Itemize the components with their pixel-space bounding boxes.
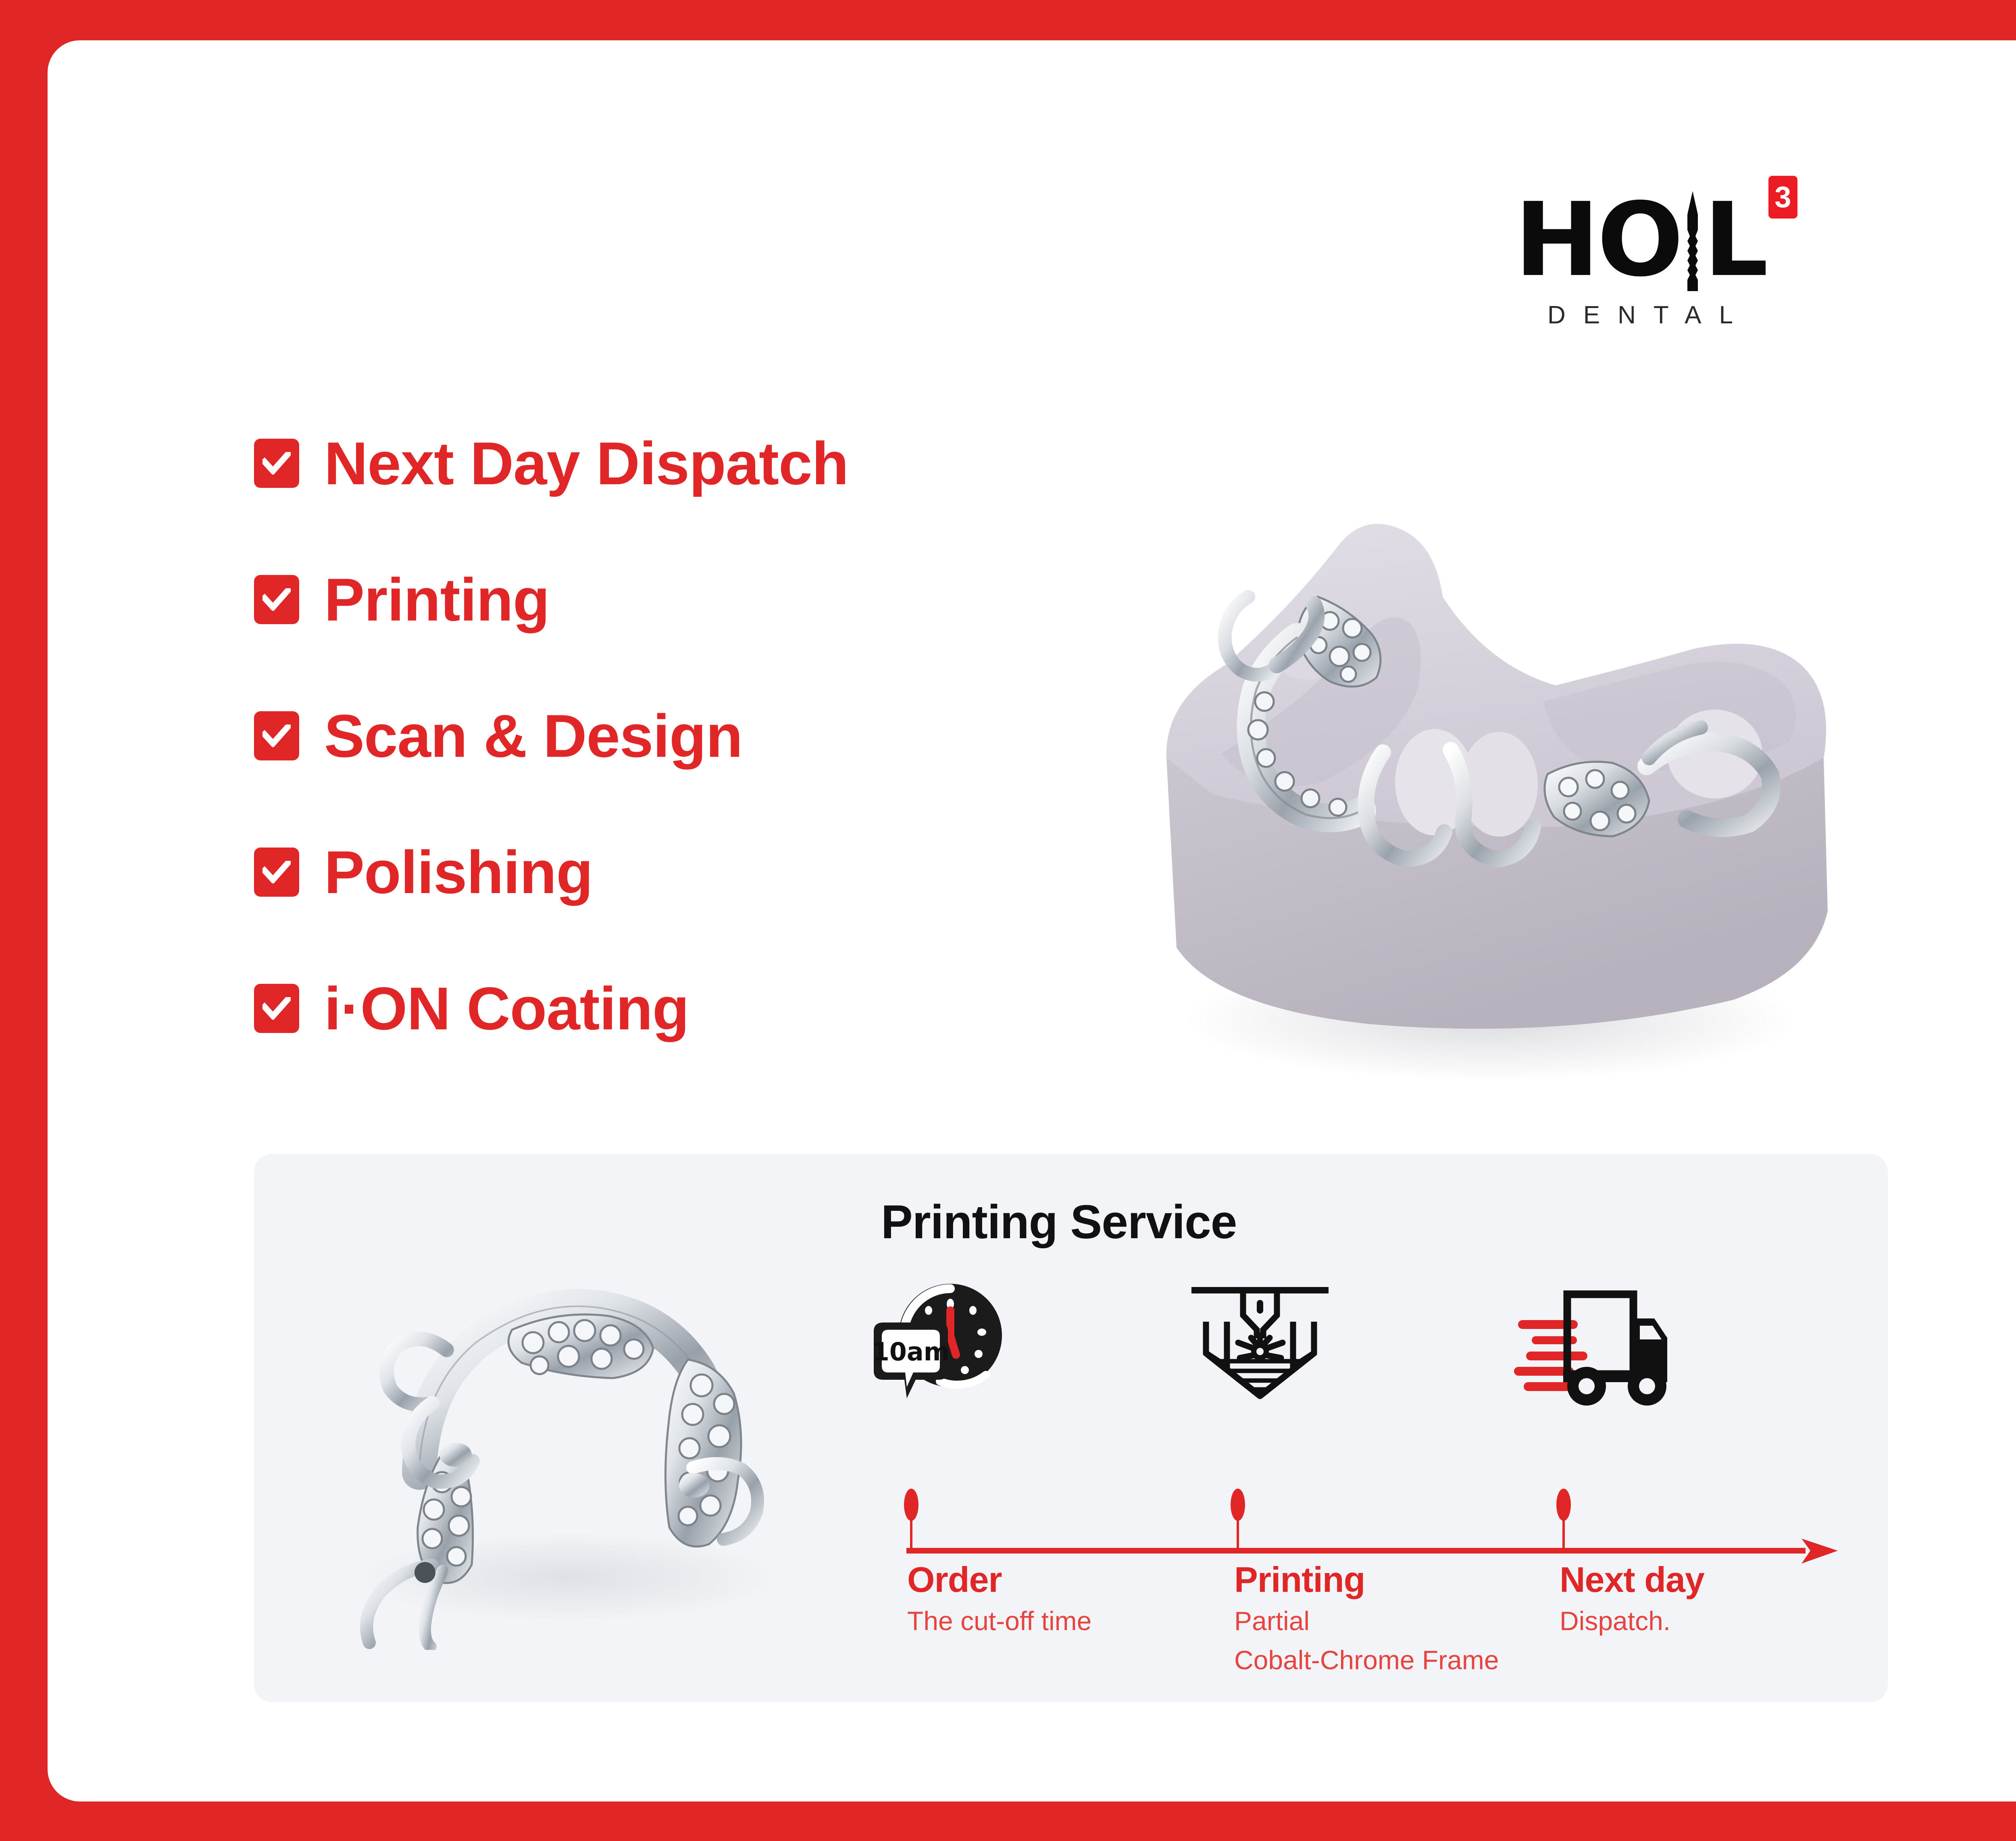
svg-text:10am: 10am — [872, 1337, 950, 1366]
timeline-step-next-day: Next day Dispatch. — [1560, 1560, 1704, 1638]
timeline-step-head: Printing — [1234, 1560, 1499, 1599]
timeline-step-order: Order The cut-off time — [907, 1560, 1091, 1638]
timeline-axis — [902, 1487, 1854, 1564]
hero-title: SLM Partial Cobalt-Chrome Frame — [1967, 1492, 2016, 1651]
timeline-step-sub: Dispatch. — [1560, 1604, 1704, 1638]
checklist-item-label: Polishing — [324, 842, 593, 902]
timeline-labels: Order The cut-off time Printing Partial … — [902, 1560, 1870, 1689]
panel-title: Printing Service — [881, 1198, 1237, 1246]
hero-title-line2: Cobalt-Chrome Frame — [1967, 1574, 2016, 1651]
logo-subtitle: DENTAL — [1427, 301, 1854, 329]
timeline-step-printing: Printing Partial Cobalt-Chrome Frame — [1234, 1560, 1499, 1677]
timeline-step-head: Order — [907, 1560, 1091, 1599]
checkbox-checked-icon — [254, 711, 299, 760]
checklist-item-next-day-dispatch: Next Day Dispatch — [254, 429, 1141, 497]
timeline-step-sub: The cut-off time — [907, 1604, 1091, 1638]
banner-red-frame: HO L 3 DENTAL Next Day Dispatch — [0, 0, 2016, 1841]
checklist-item-scan-and-design: Scan & Design — [254, 702, 1141, 770]
brand-logo[interactable]: HO L 3 DENTAL — [1427, 190, 1854, 371]
dental-drill-bur-icon — [1680, 191, 1705, 291]
checkbox-checked-icon — [254, 848, 299, 897]
timeline-step-sub: Cobalt-Chrome Frame — [1234, 1643, 1499, 1677]
checklist-item-label: Next Day Dispatch — [324, 433, 848, 494]
logo-l-text: L — [1704, 190, 1766, 291]
banner-inner-card: HO L 3 DENTAL Next Day Dispatch — [48, 40, 2016, 1801]
timeline-step-sub: Partial — [1234, 1604, 1499, 1638]
dental-cast-model-photo — [1080, 476, 1906, 1121]
delivery-truck-icon — [1514, 1275, 1667, 1412]
hero-partial-frame-photo — [1967, 508, 2016, 1298]
checkbox-checked-icon — [254, 439, 299, 488]
feature-checklist: Next Day Dispatch Printing Scan & Design — [254, 429, 1141, 1042]
logo-superscript-badge: 3 — [1768, 176, 1797, 219]
slm-printer-nozzle-icon — [1183, 1275, 1337, 1412]
timeline-step-head: Next day — [1560, 1560, 1704, 1599]
partial-frame-photo-small — [286, 1214, 859, 1650]
timeline-icons: 10am — [865, 1275, 1841, 1416]
clock-cutoff-icon: 10am — [865, 1275, 1018, 1412]
checkbox-checked-icon — [254, 984, 299, 1033]
checklist-item-label: i·ON Coating — [324, 978, 689, 1039]
checklist-item-label: Printing — [324, 569, 550, 630]
checklist-item-printing: Printing — [254, 566, 1141, 633]
checkbox-checked-icon — [254, 575, 299, 624]
logo-ho-text: HO — [1514, 190, 1681, 291]
logo-wordmark: HO L 3 — [1514, 190, 1766, 291]
checklist-item-polishing: Polishing — [254, 838, 1141, 906]
price-row: From£49 — [1967, 1304, 2016, 1392]
checklist-item-ion-coating: i·ON Coating — [254, 975, 1141, 1042]
hero-title-line1: SLM Partial — [1967, 1492, 2016, 1570]
checklist-item-label: Scan & Design — [324, 706, 742, 766]
